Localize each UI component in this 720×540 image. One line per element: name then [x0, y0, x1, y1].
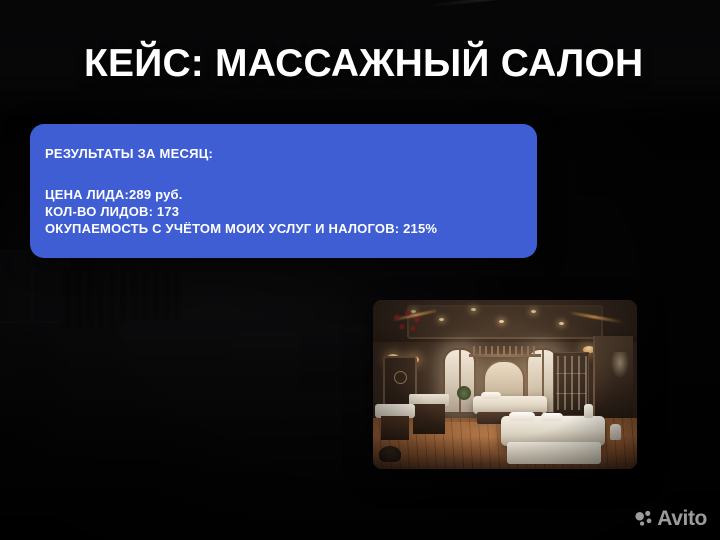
results-card-title: РЕЗУЛЬТАТЫ ЗА МЕСЯЦ:	[45, 146, 213, 161]
slide-root: КЕЙС: МАССАЖНЫЙ САЛОН РЕЗУЛЬТАТЫ ЗА МЕСЯ…	[0, 0, 720, 540]
avito-watermark: Avito	[634, 508, 707, 529]
results-card: РЕЗУЛЬТАТЫ ЗА МЕСЯЦ: ЦЕНА ЛИДА:289 руб. …	[30, 124, 537, 258]
page-title: КЕЙС: МАССАЖНЫЙ САЛОН	[84, 41, 643, 87]
massage-salon-photo	[373, 300, 637, 469]
results-metric-roi: ОКУПАЕМОСТЬ С УЧЁТОМ МОИХ УСЛУГ И НАЛОГО…	[45, 220, 529, 237]
results-metric-lead-price: ЦЕНА ЛИДА:289 руб.	[45, 186, 529, 203]
results-metrics-list: ЦЕНА ЛИДА:289 руб. КОЛ-ВО ЛИДОВ: 173 ОКУ…	[45, 186, 529, 237]
avito-watermark-label: Avito	[657, 508, 707, 529]
results-metric-lead-count: КОЛ-ВО ЛИДОВ: 173	[45, 203, 529, 220]
avito-dots-logo-icon	[634, 509, 653, 528]
